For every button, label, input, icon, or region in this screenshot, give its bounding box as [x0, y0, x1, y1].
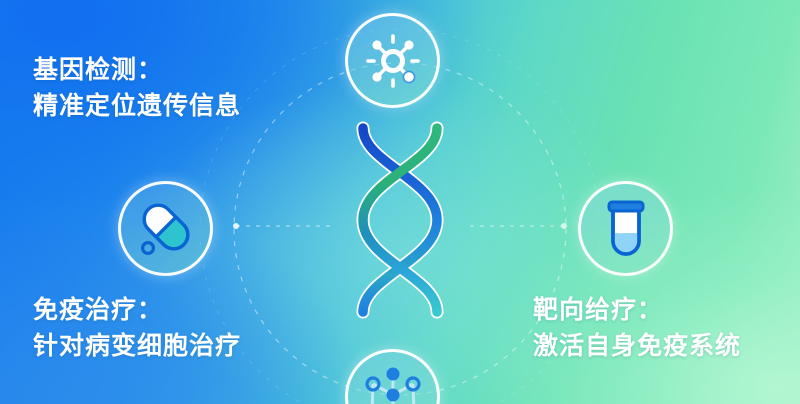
- dashed-line-left-dot: [233, 223, 239, 229]
- caption-targeted-therapy-line1: 靶向给疗：: [533, 293, 741, 329]
- dashed-line-right-dot: [561, 223, 567, 229]
- icon-badge-capsule-pill[interactable]: [118, 181, 213, 276]
- caption-gene-testing-line2: 精准定位遗传信息: [33, 89, 241, 125]
- dna-double-helix: [333, 118, 467, 322]
- icon-badge-molecule-sun[interactable]: [345, 13, 440, 108]
- caption-targeted-therapy-line2: 激活自身免疫系统: [533, 329, 741, 365]
- caption-gene-testing: 基因检测： 精准定位遗传信息: [33, 53, 241, 124]
- caption-targeted-therapy: 靶向给疗： 激活自身免疫系统: [533, 293, 741, 364]
- caption-immunotherapy-line1: 免疫治疗：: [33, 293, 241, 329]
- molecule-sun-icon: [362, 30, 424, 92]
- infographic-canvas: 基因检测： 精准定位遗传信息 免疫治疗： 针对病变细胞治疗 靶向给疗： 激活自身…: [0, 0, 800, 404]
- caption-gene-testing-line1: 基因检测：: [33, 53, 241, 89]
- icon-badge-test-tube[interactable]: [578, 181, 673, 276]
- caption-immunotherapy-line2: 针对病变细胞治疗: [33, 329, 241, 365]
- test-tube-icon: [596, 197, 656, 261]
- capsule-pill-icon: [133, 196, 199, 262]
- molecule-network-icon: [358, 362, 428, 404]
- caption-immunotherapy: 免疫治疗： 针对病变细胞治疗: [33, 293, 241, 364]
